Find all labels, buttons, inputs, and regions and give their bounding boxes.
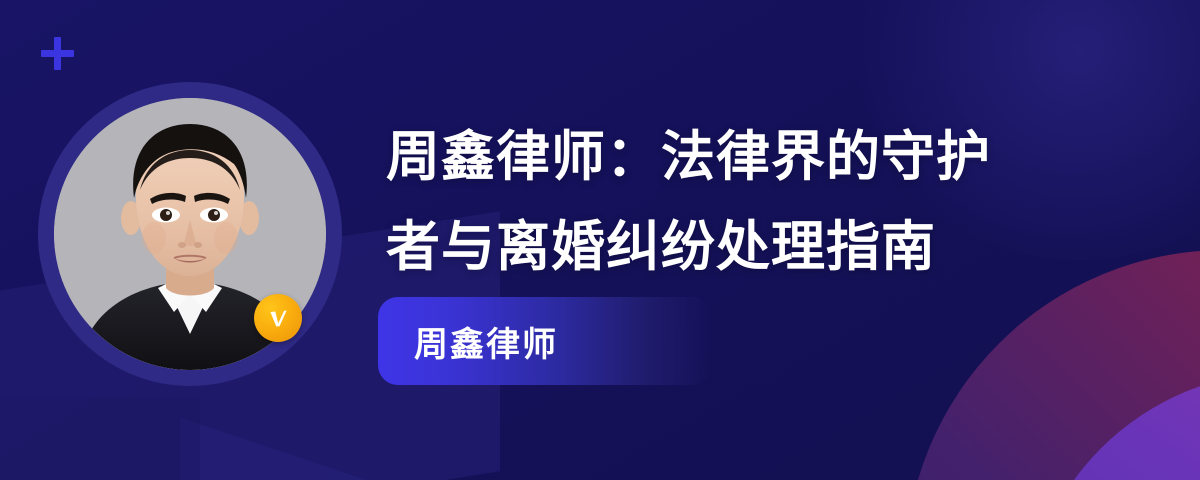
author-badge[interactable]: 周鑫律师 bbox=[378, 297, 712, 385]
article-cover-banner: 周鑫律师：法律界的守护者与离婚纠纷处理指南 周鑫律师 bbox=[0, 0, 1200, 480]
decor-polygon-center bbox=[180, 378, 600, 480]
cover-text-block: 周鑫律师：法律界的守护者与离婚纠纷处理指南 周鑫律师 bbox=[386, 112, 1086, 292]
author-name: 周鑫律师 bbox=[378, 317, 558, 366]
decor-arc-inner bbox=[1025, 372, 1200, 480]
avatar[interactable] bbox=[38, 82, 342, 386]
page-title: 周鑫律师：法律界的守护者与离婚纠纷处理指南 bbox=[386, 112, 1016, 292]
plus-icon bbox=[41, 37, 74, 70]
verified-check-icon bbox=[254, 294, 302, 342]
decor-polygon-bottom-left bbox=[0, 398, 200, 480]
